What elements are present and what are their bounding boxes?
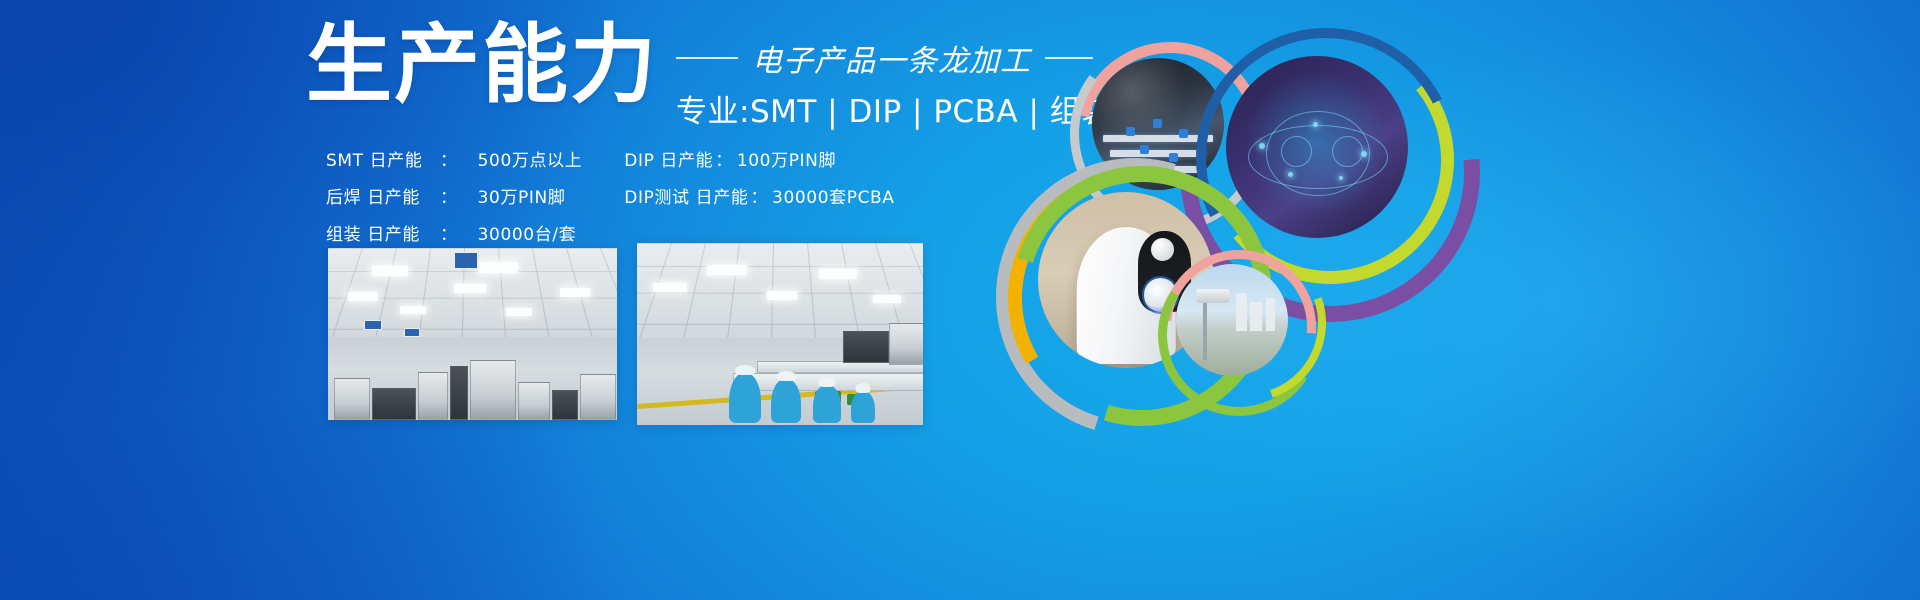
- spec-label: DIP 日产能: [624, 146, 713, 171]
- page-title: 生产能力: [306, 22, 658, 110]
- photo-scene: [328, 248, 617, 420]
- production-capacity-banner: 生产能力 电子产品一条龙加工 专业:SMT | DIP | PCBA | 组装 …: [0, 0, 1920, 600]
- capacity-spec-list: SMT 日产能 ： 500万点以上 后焊 日产能 ： 30万PIN脚 组装 日产…: [326, 146, 895, 245]
- worker: [771, 379, 801, 423]
- conveyor-part: [1140, 145, 1149, 154]
- ceiling-lamp: [454, 284, 486, 293]
- conveyor-part: [1153, 119, 1162, 128]
- spec-column-left: SMT 日产能 ： 500万点以上 后焊 日产能 ： 30万PIN脚 组装 日产…: [326, 146, 582, 245]
- spec-row: 后焊 日产能 ： 30万PIN脚: [326, 183, 582, 208]
- ceiling-lamp: [707, 265, 747, 275]
- machine: [372, 388, 416, 420]
- city-inner: [1176, 264, 1288, 376]
- spec-value: 30000台/套: [478, 220, 577, 245]
- rule-left-icon: [676, 57, 738, 59]
- spec-label: DIP测试 日产能: [624, 183, 748, 208]
- workshop-sign: [454, 252, 478, 269]
- ceiling-lamp: [819, 269, 857, 279]
- spec-label: 组装 日产能: [326, 220, 438, 245]
- building: [1250, 302, 1262, 331]
- worker-cap: [856, 383, 871, 393]
- ceiling-lamp: [767, 291, 797, 300]
- ceiling-lamp: [372, 266, 408, 276]
- machine: [518, 382, 550, 420]
- city-camera-circle: [1176, 264, 1288, 376]
- spec-label: SMT 日产能: [326, 146, 438, 171]
- spec-colon: ：: [438, 183, 460, 208]
- circle-image-cluster: [1030, 22, 1450, 382]
- worker: [813, 385, 841, 423]
- camera-pole: [1203, 298, 1207, 361]
- spec-value: 500万点以上: [478, 146, 583, 171]
- spec-row: 组装 日产能 ： 30000台/套: [326, 220, 582, 245]
- spec-value: 100万PIN脚: [737, 146, 836, 171]
- ceiling-lamp: [478, 262, 518, 273]
- ceiling-lamp: [653, 283, 687, 292]
- workshop-sign: [364, 320, 382, 330]
- machine: [580, 374, 616, 420]
- spec-colon: ：: [748, 183, 770, 208]
- photo-scene: [637, 243, 923, 425]
- spec-label: 后焊 日产能: [326, 183, 438, 208]
- machine: [843, 331, 889, 363]
- ceiling-lamp: [506, 308, 532, 316]
- machine-row: [328, 348, 617, 420]
- spec-colon: ：: [713, 146, 735, 171]
- conveyor-part: [1169, 153, 1178, 162]
- machine: [470, 360, 516, 420]
- assembly-line-photo: [637, 243, 923, 425]
- ceiling-lamp: [560, 288, 590, 297]
- machine: [552, 390, 578, 420]
- worker-cap: [818, 377, 835, 387]
- building: [1266, 298, 1275, 332]
- machine: [334, 378, 370, 420]
- spec-colon: ：: [438, 146, 460, 171]
- security-camera-icon: [1196, 289, 1230, 304]
- spec-row: SMT 日产能 ： 500万点以上: [326, 146, 582, 171]
- machine: [418, 372, 448, 420]
- spec-row: DIP测试 日产能 ： 30000套PCBA: [624, 183, 894, 208]
- fryer-knob: [1151, 238, 1174, 261]
- spec-column-right: DIP 日产能 ： 100万PIN脚 DIP测试 日产能 ： 30000套PCB…: [624, 146, 894, 245]
- machine: [450, 366, 468, 420]
- workshop-sign: [404, 328, 420, 337]
- ceiling-lamp: [348, 292, 378, 301]
- smt-workshop-photo: [328, 248, 617, 420]
- spec-value: 30万PIN脚: [478, 183, 566, 208]
- worker-cap: [777, 371, 796, 381]
- spec-colon: ：: [438, 220, 460, 245]
- spec-value: 30000套PCBA: [772, 183, 895, 208]
- ceiling-lamp: [873, 295, 901, 303]
- worker: [729, 373, 761, 423]
- ceiling-lamp: [400, 306, 426, 314]
- tagline-text: 电子产品一条龙加工: [752, 36, 1031, 80]
- conveyor-part: [1126, 127, 1135, 136]
- worker: [851, 391, 875, 423]
- spec-row: DIP 日产能 ： 100万PIN脚: [624, 146, 894, 171]
- building: [1236, 293, 1246, 331]
- machine: [889, 323, 923, 365]
- worker-cap: [735, 365, 755, 375]
